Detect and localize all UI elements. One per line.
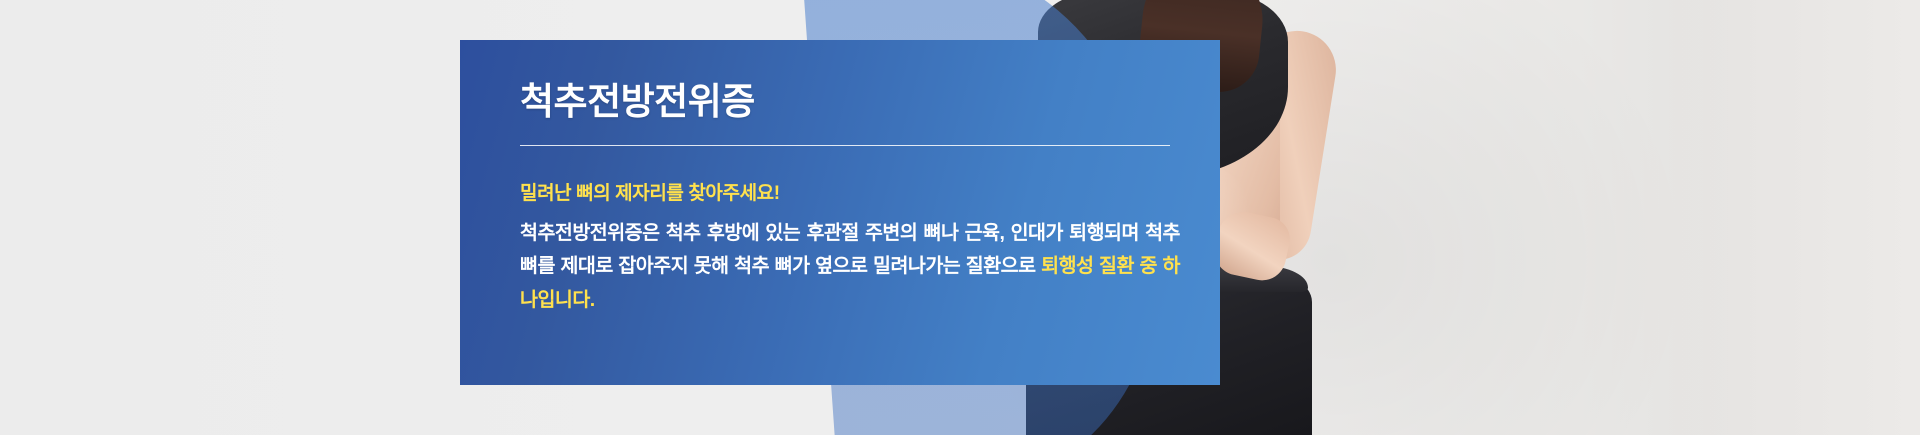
panel-subtitle: 밀려난 뼈의 제자리를 찾아주세요!: [520, 178, 1170, 205]
page-title: 척추전방전위증: [520, 82, 1170, 123]
info-panel: 척추전방전위증 밀려난 뼈의 제자리를 찾아주세요! 척추전방전위증은 척추 후…: [460, 40, 1220, 385]
info-panel-content: 척추전방전위증 밀려난 뼈의 제자리를 찾아주세요! 척추전방전위증은 척추 후…: [520, 82, 1170, 337]
panel-description: 척추전방전위증은 척추 후방에 있는 후관절 주변의 뼈나 근육, 인대가 퇴행…: [520, 217, 1180, 318]
background-right-gradient: [1620, 0, 1920, 435]
spondylolisthesis-banner: 척추전방전위증 밀려난 뼈의 제자리를 찾아주세요! 척추전방전위증은 척추 후…: [0, 0, 1920, 435]
title-divider: [520, 145, 1170, 146]
